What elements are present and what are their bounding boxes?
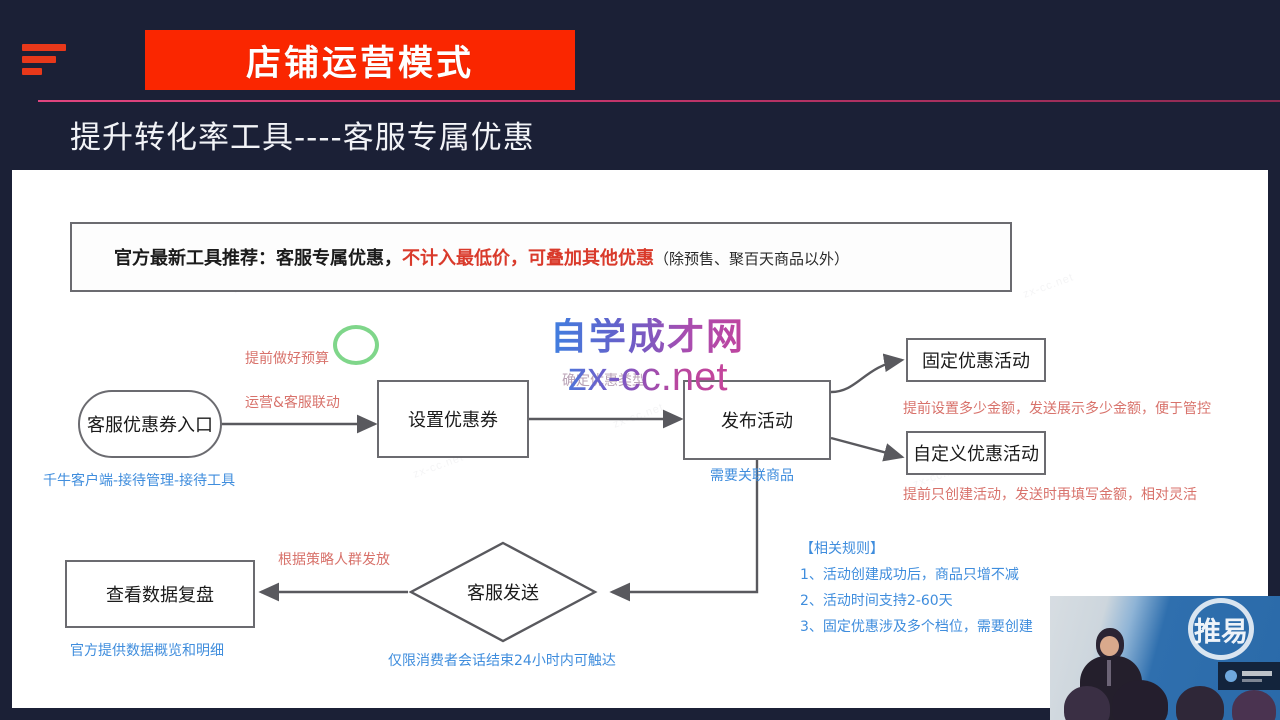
callout-lead-text: 官方最新工具推荐：客服专属优惠，	[114, 248, 402, 269]
node-custom-promotion[interactable]: 自定义优惠活动	[906, 431, 1046, 475]
callout-red-text-2: 可叠加其他优惠	[528, 248, 654, 269]
callout-red-text-1: 不计入最低价，	[402, 248, 528, 269]
rules-item-3: 3、固定优惠涉及多个档位，需要创建	[800, 614, 1033, 640]
slide-title-banner: 店铺运营模式	[145, 30, 575, 90]
annotation-review-source: 官方提供数据概览和明细	[70, 640, 224, 660]
stacked-bars-logo-icon	[22, 42, 70, 80]
audience-head	[1176, 686, 1224, 720]
rules-item-1: 1、活动创建成功后，商品只增不减	[800, 562, 1033, 588]
annotation-relate-goods: 需要关联商品	[710, 465, 794, 485]
annotation-fixed-desc: 提前设置多少金额，发送展示多少金额，便于管控	[903, 398, 1211, 418]
annotation-send-window: 仅限消费者会话结束24小时内可触达	[388, 650, 616, 670]
node-customer-service-send[interactable]: 客服发送	[408, 540, 598, 644]
banner-bar	[1242, 671, 1272, 676]
node-custom-promotion-label: 自定义优惠活动	[913, 440, 1039, 466]
annotation-entry-path: 千牛客户端-接待管理-接待工具	[43, 470, 235, 490]
annotation-custom-desc: 提前只创建活动，发送时再填写金额，相对灵活	[903, 484, 1197, 504]
node-customer-service-send-label: 客服发送	[408, 540, 598, 644]
node-set-coupon-label: 设置优惠券	[408, 406, 498, 432]
annotation-linkage: 运营&客服联动	[245, 392, 340, 412]
presentation-slide: 店铺运营模式 提升转化率工具----客服专属优惠 zx-cc.net zx-cc…	[0, 0, 1280, 720]
presenter-video-thumbnail[interactable]: 推易	[1050, 596, 1280, 720]
audience-head	[1112, 680, 1168, 720]
header-divider	[38, 100, 1280, 102]
slide-title-text: 店铺运营模式	[246, 35, 474, 86]
node-publish-activity[interactable]: 发布活动	[683, 380, 831, 460]
green-circle-annotation-icon	[333, 325, 379, 365]
annotation-coupon-type: 确定优惠类型	[562, 370, 646, 390]
audience-head	[1232, 690, 1276, 720]
tool-recommendation-callout: 官方最新工具推荐：客服专属优惠，不计入最低价，可叠加其他优惠（除预售、聚百天商品…	[70, 222, 1012, 292]
annotation-budget: 提前做好预算	[245, 348, 329, 368]
rules-item-2: 2、活动时间支持2-60天	[800, 588, 1033, 614]
annotation-crowd-send: 根据策略人群发放	[278, 549, 390, 569]
node-publish-activity-label: 发布活动	[721, 407, 793, 433]
audience-head	[1064, 686, 1110, 720]
node-view-data-review[interactable]: 查看数据复盘	[65, 560, 255, 628]
presenter-face	[1100, 636, 1119, 656]
audience-silhouettes	[1050, 680, 1280, 720]
callout-tail-text: （除预售、聚百天商品以外）	[654, 250, 849, 268]
node-coupon-entry[interactable]: 客服优惠券入口	[78, 390, 222, 458]
node-coupon-entry-label: 客服优惠券入口	[87, 411, 213, 437]
related-rules-block: 【相关规则】 1、活动创建成功后，商品只增不减 2、活动时间支持2-60天 3、…	[800, 536, 1033, 640]
slide-subtitle: 提升转化率工具----客服专属优惠	[70, 112, 535, 157]
node-fixed-promotion-label: 固定优惠活动	[922, 347, 1030, 373]
node-set-coupon[interactable]: 设置优惠券	[377, 380, 529, 458]
node-fixed-promotion[interactable]: 固定优惠活动	[906, 338, 1046, 382]
rules-title: 【相关规则】	[800, 536, 1033, 562]
backdrop-brand-logo: 推易	[1188, 598, 1254, 660]
node-view-data-review-label: 查看数据复盘	[106, 581, 214, 607]
